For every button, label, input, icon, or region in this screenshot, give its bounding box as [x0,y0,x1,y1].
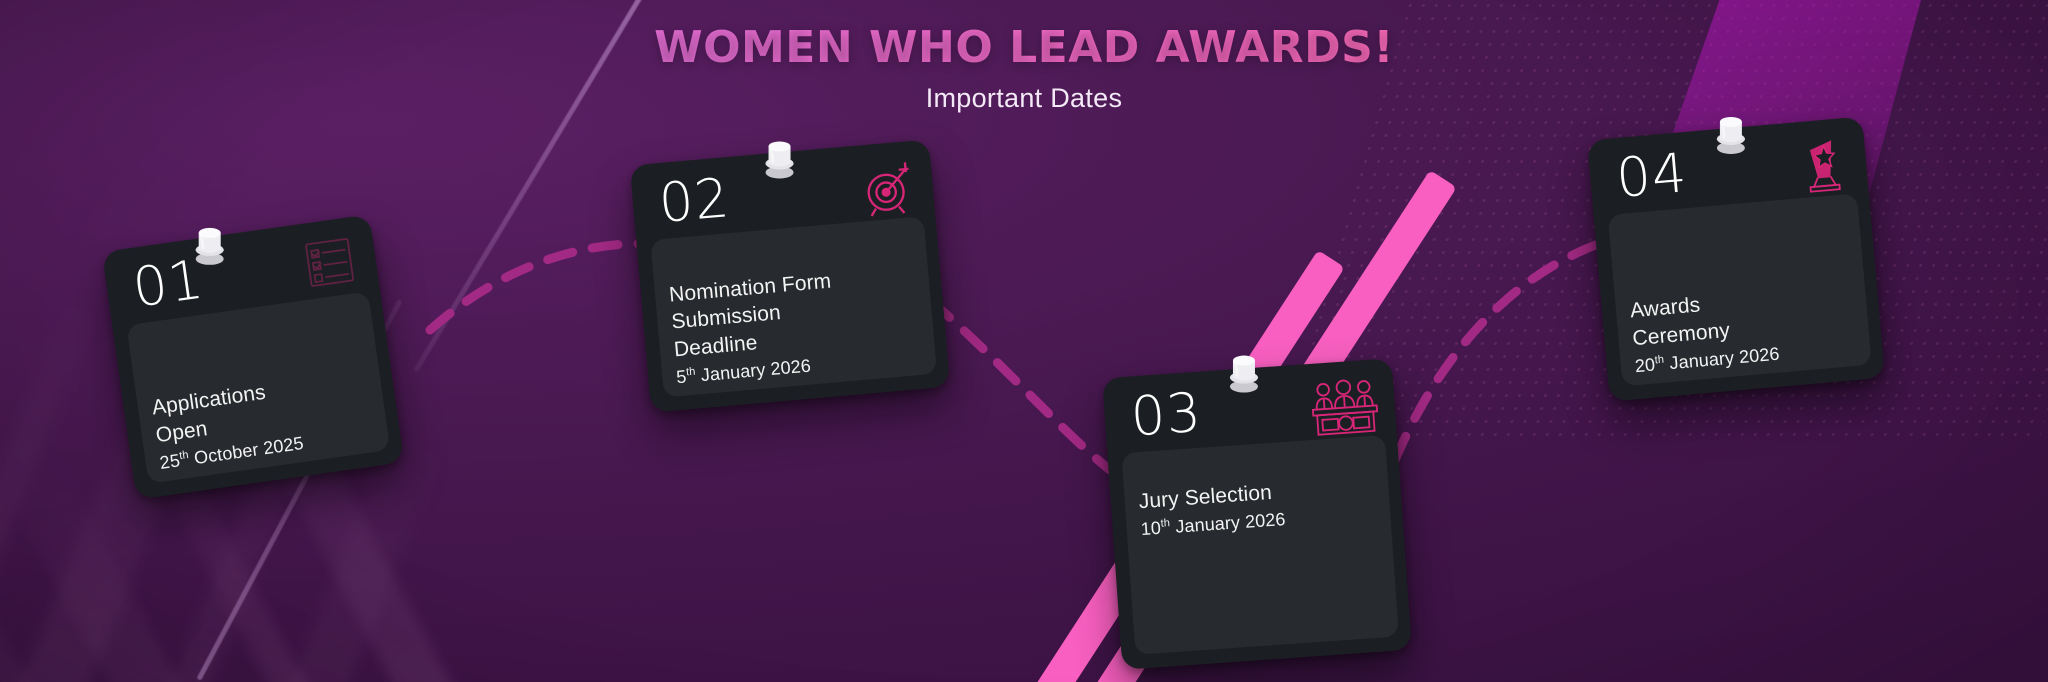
timeline-card-02[interactable]: 02 Nomination Form Submission Deadline 5… [630,139,950,412]
card-date-day: 20 [1634,354,1656,376]
timeline-card-01[interactable]: 01 Applications Open 25th October 2025 [102,214,404,499]
page-subtitle: Important Dates [0,83,2048,114]
poster-canvas: WOMEN WHO LEAD AWARDS! Important Dates 0… [0,0,2048,682]
card-number: 04 [1614,146,1689,206]
trophy-icon [1792,134,1855,199]
target-icon [854,157,921,224]
card-number: 01 [130,252,208,315]
card-date-day: 10 [1140,518,1162,539]
card-number: 03 [1129,386,1203,445]
timeline-card-03[interactable]: 03 Jury Selection 10th January 2026 [1102,358,1412,670]
timeline-card-04[interactable]: 04 Awards Ceremony 20th January 2026 [1587,116,1885,401]
checklist-icon [298,231,361,294]
page-title: WOMEN WHO LEAD AWARDS! [0,22,2048,73]
card-body: Nomination Form Submission Deadline 5th … [668,259,932,388]
poster-header: WOMEN WHO LEAD AWARDS! Important Dates [0,0,2048,114]
jury-panel-icon [1307,375,1383,442]
card-inner-panel [1121,435,1398,655]
card-number: 02 [657,171,732,231]
